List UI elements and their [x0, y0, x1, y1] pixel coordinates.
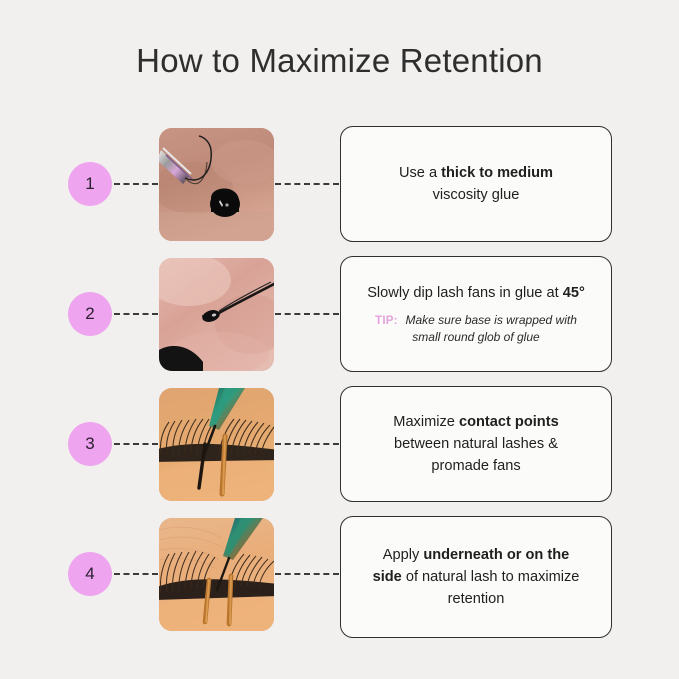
- step-photo-1: [159, 128, 274, 241]
- card-text-line: promade fans: [431, 455, 520, 477]
- photo-graphic-1: [159, 128, 274, 241]
- card-text-line: Use a thick to medium: [399, 162, 553, 184]
- card-text-line: Maximize contact points: [393, 411, 558, 433]
- card-text-line: retention: [448, 588, 505, 610]
- step-card-3: Maximize contact points between natural …: [340, 386, 612, 502]
- connector-right-4: [275, 573, 339, 575]
- tip-text-line-2: small round glob of glue: [375, 329, 577, 346]
- tip-block: TIP: Make sure base is wrapped with smal…: [375, 311, 577, 346]
- connector-left-2: [114, 313, 158, 315]
- step-row-2: 2: [0, 256, 679, 372]
- connector-right-2: [275, 313, 339, 315]
- step-photo-3: [159, 388, 274, 501]
- card-text-line: between natural lashes &: [394, 433, 558, 455]
- connector-left-4: [114, 573, 158, 575]
- step-card-4: Apply underneath or on the side of natur…: [340, 516, 612, 638]
- tip-text-line-1: Make sure base is wrapped with: [405, 313, 576, 327]
- step-number-badge-4: 4: [68, 552, 112, 596]
- infographic-canvas: How to Maximize Retention 1: [0, 0, 679, 679]
- card-text-line: viscosity glue: [433, 184, 520, 206]
- connector-right-1: [275, 183, 339, 185]
- card-text-line: side of natural lash to maximize: [373, 566, 580, 588]
- step-photo-4: [159, 518, 274, 631]
- card-text-line: Slowly dip lash fans in glue at 45°: [367, 282, 585, 304]
- tip-label: TIP:: [375, 315, 401, 327]
- step-number-badge-2: 2: [68, 292, 112, 336]
- step-photo-2: [159, 258, 274, 371]
- step-card-2: Slowly dip lash fans in glue at 45° TIP:…: [340, 256, 612, 372]
- connector-left-1: [114, 183, 158, 185]
- photo-graphic-2: [159, 258, 274, 371]
- photo-graphic-3: [159, 388, 274, 501]
- step-number-badge-1: 1: [68, 162, 112, 206]
- photo-graphic-4: [159, 518, 274, 631]
- step-number-badge-3: 3: [68, 422, 112, 466]
- step-card-1: Use a thick to medium viscosity glue: [340, 126, 612, 242]
- page-title: How to Maximize Retention: [0, 42, 679, 80]
- card-text-line: Apply underneath or on the: [383, 544, 570, 566]
- connector-left-3: [114, 443, 158, 445]
- step-row-3: 3: [0, 386, 679, 502]
- step-row-1: 1: [0, 126, 679, 242]
- connector-right-3: [275, 443, 339, 445]
- step-row-4: 4: [0, 516, 679, 632]
